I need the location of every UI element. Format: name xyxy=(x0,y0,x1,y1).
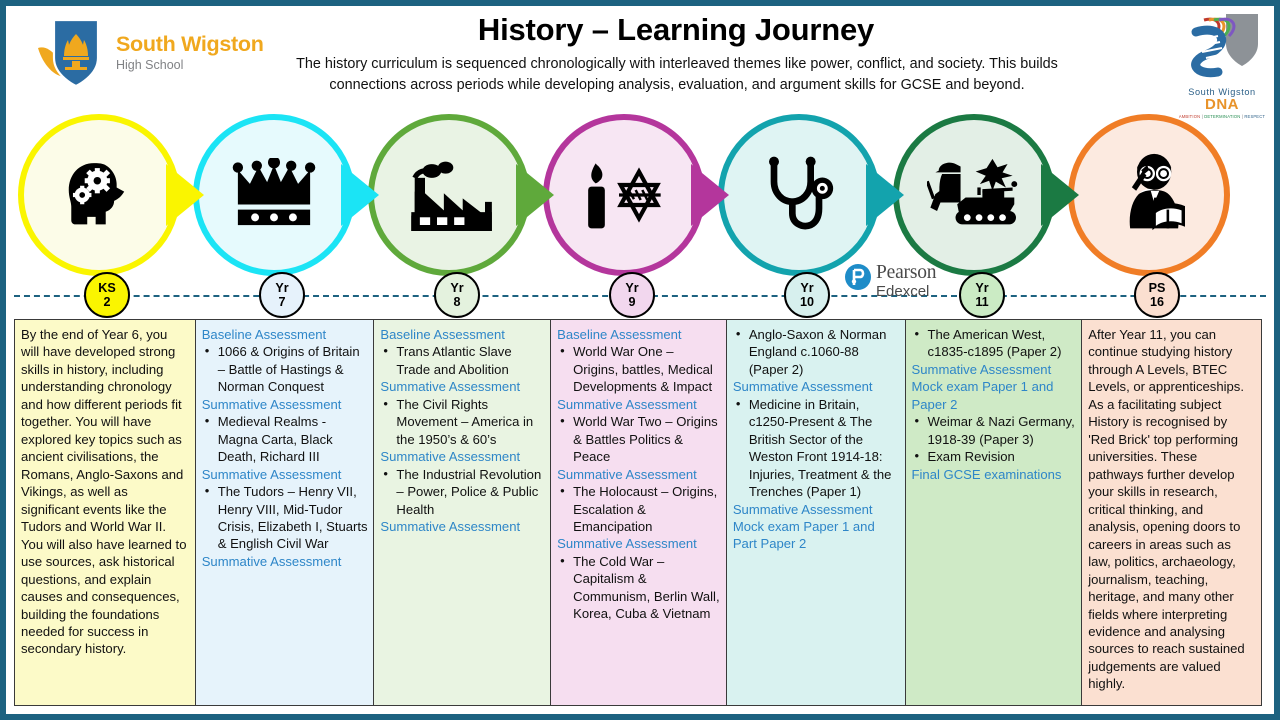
stage-circle-ps16[interactable] xyxy=(1068,114,1230,276)
topic-list-yr9: The Cold War – Capitalism & Communism, B… xyxy=(557,553,720,623)
curriculum-panel-yr11: The American West, c1835-c1895 (Paper 2)… xyxy=(905,319,1083,706)
stage-badge-label-yr9: Yr xyxy=(625,281,638,295)
assessment-label-yr8-2: Summative Assessment xyxy=(380,378,544,395)
learning-journey-poster: South Wigston High School History – Lear… xyxy=(0,0,1280,720)
poster-canvas: South Wigston High School History – Lear… xyxy=(6,6,1274,714)
curriculum-panel-yr7: Baseline Assessment1066 & Origins of Bri… xyxy=(195,319,375,706)
journey-arrow-yr8 xyxy=(516,164,554,226)
stage-badge-label-yr11: Yr xyxy=(975,281,988,295)
assessment-label-yr9-0: Baseline Assessment xyxy=(557,326,720,343)
topic-item: The Industrial Revolution – Power, Polic… xyxy=(380,466,544,518)
topic-list-yr10: Anglo-Saxon & Norman England c.1060-88 (… xyxy=(733,326,899,378)
topic-list-yr10: Medicine in Britain, c1250-Present & The… xyxy=(733,396,899,501)
journey-arrow-yr7 xyxy=(341,164,379,226)
curriculum-panels: By the end of Year 6, you will have deve… xyxy=(14,319,1266,706)
stage-badge-label-yr7: Yr xyxy=(275,281,288,295)
panel-paragraph-ks2: By the end of Year 6, you will have deve… xyxy=(21,326,189,658)
topic-item: 1066 & Origins of Britain – Battle of Ha… xyxy=(202,343,368,395)
topic-item: World War Two – Origins & Battles Politi… xyxy=(557,413,720,465)
stage-badge-value-yr10: 10 xyxy=(800,295,814,309)
assessment-label-yr10-1: Summative Assessment xyxy=(733,378,899,395)
journey-arrow-yr9 xyxy=(691,164,729,226)
topic-item: The American West, c1835-c1895 (Paper 2) xyxy=(912,326,1076,361)
stage-badge-label-ks2: KS xyxy=(98,281,116,295)
topic-list-yr7: The Tudors – Henry VII, Henry VIII, Mid-… xyxy=(202,483,368,553)
topic-list-yr8: Trans Atlantic Slave Trade and Abolition xyxy=(380,343,544,378)
stage-badge-yr11[interactable]: Yr11 xyxy=(959,272,1005,318)
candle-star-icon xyxy=(579,154,669,236)
stage-badge-value-ps16: 16 xyxy=(1150,295,1164,309)
topic-list-yr11: Weimar & Nazi Germany, 1918-39 (Paper 3)… xyxy=(912,413,1076,465)
topic-list-yr11: The American West, c1835-c1895 (Paper 2) xyxy=(912,326,1076,361)
topic-item: World War One – Origins, battles, Medica… xyxy=(557,343,720,395)
stage-badge-label-yr8: Yr xyxy=(450,281,463,295)
topic-list-yr7: Medieval Realms - Magna Carta, Black Dea… xyxy=(202,413,368,465)
assessment-label-yr9-4: Summative Assessment xyxy=(557,466,720,483)
assessment-label-yr7-6: Summative Assessment xyxy=(202,553,368,570)
dna-logo-big: DNA xyxy=(1174,97,1270,113)
stage-badge-ks2[interactable]: KS2 xyxy=(84,272,130,318)
stage-badge-value-yr7: 7 xyxy=(278,295,285,309)
topic-item: The Civil Rights Movement – America in t… xyxy=(380,396,544,448)
journey-stage-yr8[interactable] xyxy=(368,114,548,294)
school-name: South Wigston xyxy=(116,34,264,56)
school-logo-text: South Wigston High School xyxy=(116,34,264,71)
exam-board-sub: Edexcel xyxy=(876,283,929,300)
assessment-label-yr8-6: Summative Assessment xyxy=(380,518,544,535)
assessment-label-yr9-6: Summative Assessment xyxy=(557,535,720,552)
topic-list-yr8: The Industrial Revolution – Power, Polic… xyxy=(380,466,544,518)
topic-list-yr8: The Civil Rights Movement – America in t… xyxy=(380,396,544,448)
topic-list-yr9: World War Two – Origins & Battles Politi… xyxy=(557,413,720,465)
topic-list-yr9: World War One – Origins, battles, Medica… xyxy=(557,343,720,395)
factory-icon xyxy=(406,159,492,231)
school-logo: South Wigston High School xyxy=(34,14,264,94)
stage-badge-yr7[interactable]: Yr7 xyxy=(259,272,305,318)
topic-item: Medieval Realms - Magna Carta, Black Dea… xyxy=(202,413,368,465)
journey-arrow-yr11 xyxy=(1041,164,1079,226)
topic-item: The Tudors – Henry VII, Henry VIII, Mid-… xyxy=(202,483,368,553)
crown-icon xyxy=(231,158,317,232)
journey-stage-yr7[interactable] xyxy=(193,114,373,294)
assessment-label-yr7-4: Summative Assessment xyxy=(202,466,368,483)
journey-arrow-ks2 xyxy=(166,164,204,226)
stage-circle-yr7[interactable] xyxy=(193,114,355,276)
assessment-label-yr11-4: Final GCSE examinations xyxy=(912,466,1076,483)
page-subtitle: The history curriculum is sequenced chro… xyxy=(258,54,1096,97)
topic-item: Weimar & Nazi Germany, 1918-39 (Paper 3) xyxy=(912,413,1076,448)
stage-badge-value-ks2: 2 xyxy=(103,295,110,309)
assessment-label-yr10-3: Summative Assessment Mock exam Paper 1 a… xyxy=(733,501,899,553)
stage-badge-yr10[interactable]: Yr10 xyxy=(784,272,830,318)
head-with-gears-icon xyxy=(57,153,141,237)
stage-circle-yr8[interactable] xyxy=(368,114,530,276)
stage-badge-ps16[interactable]: PS16 xyxy=(1134,272,1180,318)
topic-item: Trans Atlantic Slave Trade and Abolition xyxy=(380,343,544,378)
soldier-tank-icon xyxy=(927,155,1021,235)
curriculum-panel-ks2: By the end of Year 6, you will have deve… xyxy=(14,319,196,706)
topic-item: Exam Revision xyxy=(912,448,1076,465)
curriculum-panel-yr8: Baseline AssessmentTrans Atlantic Slave … xyxy=(373,319,551,706)
stage-badge-value-yr11: 11 xyxy=(975,295,988,309)
stage-badge-label-ps16: PS xyxy=(1149,281,1166,295)
exam-board-logo: Pearson Edexcel xyxy=(844,263,966,307)
student-reading-icon xyxy=(1106,153,1192,237)
journey-stage-ks2[interactable] xyxy=(18,114,198,294)
stage-badge-yr8[interactable]: Yr8 xyxy=(434,272,480,318)
topic-list-yr7: 1066 & Origins of Britain – Battle of Ha… xyxy=(202,343,368,395)
assessment-label-yr9-2: Summative Assessment xyxy=(557,396,720,413)
stage-badge-yr9[interactable]: Yr9 xyxy=(609,272,655,318)
journey-arrow-yr10 xyxy=(866,164,904,226)
stage-badge-value-yr9: 9 xyxy=(628,295,635,309)
stage-circle-yr10[interactable] xyxy=(718,114,880,276)
stage-circle-ks2[interactable] xyxy=(18,114,180,276)
school-crest-icon xyxy=(34,14,114,94)
topic-item: The Holocaust – Origins, Escalation & Em… xyxy=(557,483,720,535)
stage-circle-yr11[interactable] xyxy=(893,114,1055,276)
dna-shield-icon xyxy=(1174,10,1270,82)
stage-badge-label-yr10: Yr xyxy=(800,281,813,295)
topic-item: Medicine in Britain, c1250-Present & The… xyxy=(733,396,899,501)
topic-item: Anglo-Saxon & Norman England c.1060-88 (… xyxy=(733,326,899,378)
assessment-label-yr7-0: Baseline Assessment xyxy=(202,326,368,343)
exam-board-name: Pearson xyxy=(876,262,936,284)
curriculum-panel-yr10: Anglo-Saxon & Norman England c.1060-88 (… xyxy=(726,319,906,706)
journey-stage-ps16[interactable] xyxy=(1068,114,1248,294)
stage-badge-value-yr8: 8 xyxy=(453,295,460,309)
curriculum-panel-yr9: Baseline AssessmentWorld War One – Origi… xyxy=(550,319,727,706)
topic-item: The Cold War – Capitalism & Communism, B… xyxy=(557,553,720,623)
curriculum-panel-ps16: After Year 11, you can continue studying… xyxy=(1081,319,1262,706)
school-subtitle: High School xyxy=(116,59,264,72)
stethoscope-icon xyxy=(759,154,839,236)
header: South Wigston High School History – Lear… xyxy=(6,6,1274,118)
pearson-p-icon xyxy=(844,263,872,291)
assessment-label-yr8-0: Baseline Assessment xyxy=(380,326,544,343)
dna-logo: South Wigston DNA AMBITION | DETERMINATI… xyxy=(1174,10,1270,114)
topic-list-yr9: The Holocaust – Origins, Escalation & Em… xyxy=(557,483,720,535)
page-title: History – Learning Journey xyxy=(256,12,1096,48)
panel-paragraph-ps16: After Year 11, you can continue studying… xyxy=(1088,326,1255,693)
assessment-label-yr7-2: Summative Assessment xyxy=(202,396,368,413)
assessment-label-yr8-4: Summative Assessment xyxy=(380,448,544,465)
journey-stage-yr9[interactable] xyxy=(543,114,723,294)
assessment-label-yr11-1: Summative Assessment Mock exam Paper 1 a… xyxy=(912,361,1076,413)
stage-circle-yr9[interactable] xyxy=(543,114,705,276)
